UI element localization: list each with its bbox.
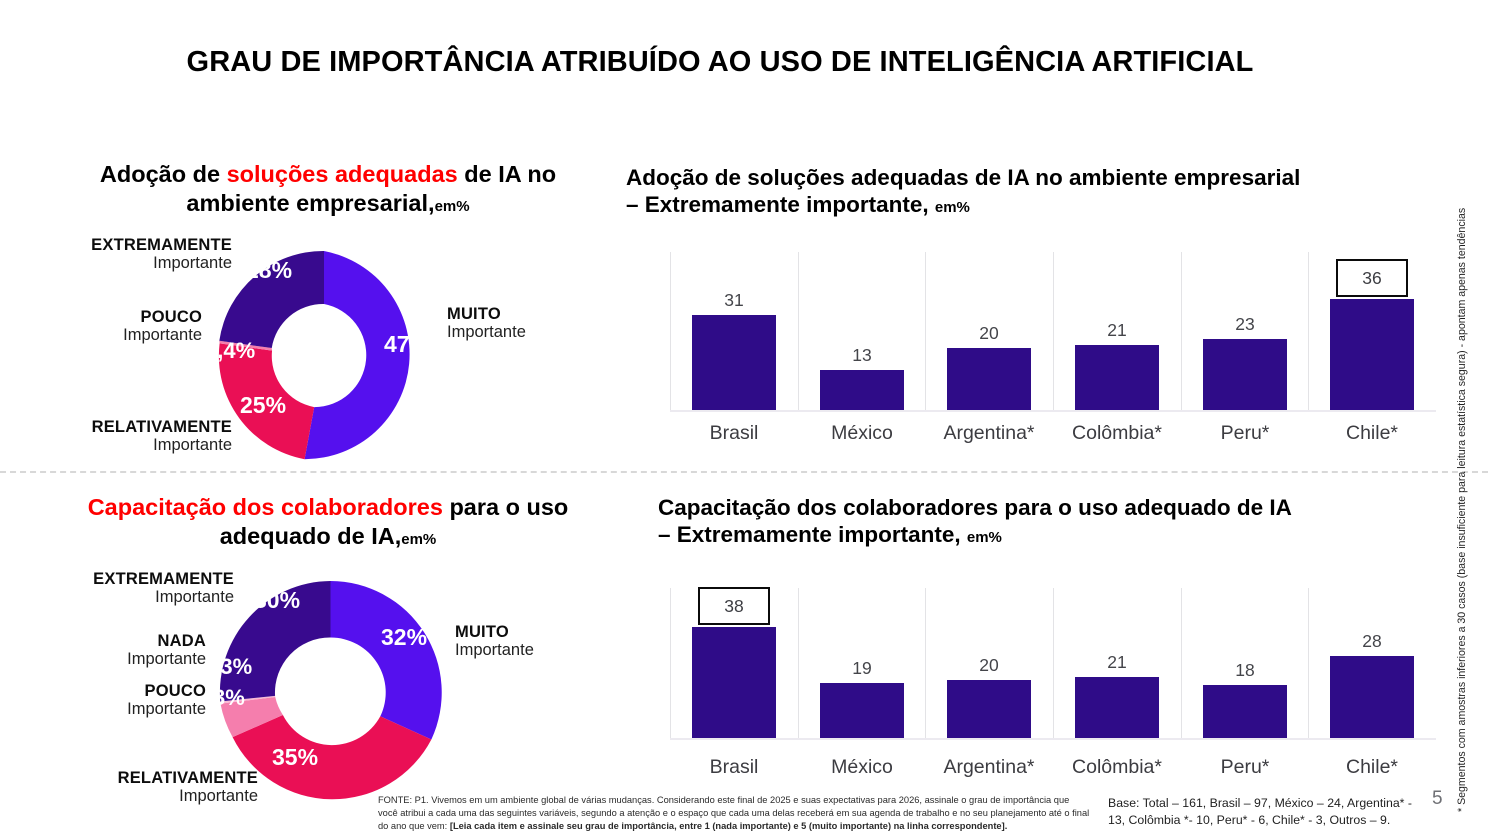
bar-value-label: 28: [1330, 631, 1414, 652]
bar-category-label: Colômbia*: [1053, 756, 1181, 779]
donut-bottom-label-relativamente-cap: RELATIVAMENTE: [62, 769, 258, 787]
bar-chile: [1330, 656, 1414, 738]
donut-bottom-label-extremamente-cap: EXTREMAMENTE: [52, 570, 234, 588]
donut-bottom-label-nada: NADA Importante: [52, 632, 206, 669]
chart-gridline: [670, 252, 671, 412]
donut-top-label-muito-sub: Importante: [447, 323, 607, 341]
donut-bottom-label-relativamente-sub: Importante: [62, 787, 258, 805]
donut-bottom-label-extremamente-sub: Importante: [52, 588, 234, 606]
chart-gridline: [925, 252, 926, 412]
bar-category-label: Chile*: [1308, 756, 1436, 779]
chart-baseline: [670, 738, 1436, 740]
donut-bottom-label-nada-sub: Importante: [52, 650, 206, 668]
bar-brasil: [692, 627, 776, 738]
donut-bottom-label-muito: MUITO Importante: [455, 623, 615, 660]
donut-bottom-value-relativamente: 35%: [272, 744, 318, 771]
bar-category-label: México: [798, 422, 926, 445]
bar-top-title: Adoção de soluções adequadas de IA no am…: [626, 164, 1426, 219]
chart-gridline: [798, 252, 799, 412]
bar-brasil: [692, 315, 776, 410]
donut-bottom-value-nada: 0,3%: [202, 654, 252, 680]
bar-value-label: 18: [1203, 660, 1287, 681]
bar-value-label: 21: [1075, 320, 1159, 341]
bar-category-label: Argentina*: [925, 422, 1053, 445]
bar-chart-top-categories: BrasilMéxicoArgentina*Colômbia*Peru*Chil…: [670, 418, 1436, 452]
donut-top-value-pouco: 0,4%: [205, 338, 255, 364]
bar-category-label: Colômbia*: [1053, 422, 1181, 445]
bar-méxico: [820, 683, 904, 738]
chart-gridline: [925, 588, 926, 740]
donut-bottom-value-pouco: 3%: [213, 685, 245, 711]
donut-bottom-value-muito: 32%: [381, 624, 427, 651]
bar-value-label: 13: [820, 345, 904, 366]
donut-top-label-pouco-sub: Importante: [52, 326, 202, 344]
donut-top-value-relativamente: 25%: [240, 392, 286, 419]
donut-top-label-pouco: POUCO Importante: [52, 308, 202, 345]
source-footnote-bold: [Leia cada item e assinale seu grau de i…: [450, 821, 1007, 831]
bar-méxico: [820, 370, 904, 410]
bar-category-label: Brasil: [670, 422, 798, 445]
chart-gridline: [1053, 252, 1054, 412]
donut-bottom-title-unit: em%: [401, 531, 436, 548]
bar-value-label: 20: [947, 655, 1031, 676]
donut-bottom-slice-relativamente: [233, 715, 432, 799]
bar-top-title-line2: – Extremamente importante,: [626, 192, 929, 217]
donut-top-label-relativamente-cap: RELATIVAMENTE: [52, 418, 232, 436]
donut-bottom-label-extremamente: EXTREMAMENTE Importante: [52, 570, 234, 607]
bar-chart-bottom-categories: BrasilMéxicoArgentina*Colômbia*Peru*Chil…: [670, 752, 1436, 786]
bar-argentina: [947, 348, 1031, 410]
donut-bottom-slice-muito: [331, 581, 442, 739]
bar-value-label: 31: [692, 290, 776, 311]
bar-category-label: Peru*: [1181, 422, 1309, 445]
donut-top-label-muito: MUITO Importante: [447, 305, 607, 342]
bar-value-label: 36: [1336, 259, 1408, 297]
donut-top-title-highlight: soluções adequadas: [227, 161, 458, 187]
bar-category-label: Brasil: [670, 756, 798, 779]
bar-chart-top: 311320212336: [670, 252, 1436, 412]
bar-bottom-title-line2: – Extremamente importante,: [658, 522, 961, 547]
bar-category-label: Peru*: [1181, 756, 1309, 779]
donut-bottom-title-highlight: Capacitação dos colaboradores: [88, 494, 443, 520]
donut-top-title-unit: em%: [435, 198, 470, 215]
donut-bottom-label-pouco-cap: POUCO: [52, 682, 206, 700]
bar-value-label: 21: [1075, 652, 1159, 673]
donut-bottom-value-extremamente: 30%: [254, 587, 300, 614]
donut-top-value-extremamente: 28%: [246, 257, 292, 284]
chart-gridline: [1181, 252, 1182, 412]
donut-top-label-relativamente-sub: Importante: [52, 436, 232, 454]
bar-colômbia: [1075, 345, 1159, 410]
chart-gridline: [798, 588, 799, 740]
chart-gridline: [1308, 252, 1309, 412]
slide-root: GRAU DE IMPORTÂNCIA ATRIBUÍDO AO USO DE …: [0, 0, 1488, 837]
chart-gridline: [670, 588, 671, 740]
donut-top-label-pouco-cap: POUCO: [52, 308, 202, 326]
donut-top-label-muito-cap: MUITO: [447, 305, 607, 323]
donut-bottom-label-pouco: POUCO Importante: [52, 682, 206, 719]
bar-bottom-title-unit: em%: [967, 529, 1002, 546]
bar-top-title-line1: Adoção de soluções adequadas de IA no am…: [626, 165, 1300, 190]
donut-chart-top: 28% 0,4% 25% 47%: [218, 250, 430, 462]
donut-bottom-label-nada-cap: NADA: [52, 632, 206, 650]
bar-value-label: 19: [820, 658, 904, 679]
bar-category-label: Chile*: [1308, 422, 1436, 445]
bar-peru: [1203, 339, 1287, 410]
bar-argentina: [947, 680, 1031, 738]
donut-bottom-label-muito-cap: MUITO: [455, 623, 615, 641]
bar-value-label: 38: [698, 587, 770, 625]
donut-bottom-label-muito-sub: Importante: [455, 641, 615, 659]
donut-bottom-title: Capacitação dos colaboradores para o uso…: [58, 493, 598, 550]
donut-top-label-relativamente: RELATIVAMENTE Importante: [52, 418, 232, 455]
donut-top-title: Adoção de soluções adequadas de IA no am…: [58, 160, 598, 217]
page-number: 5: [1432, 788, 1443, 810]
chart-gridline: [1181, 588, 1182, 740]
side-note-container: * Segmentos com amostras inferiores a 30…: [1455, 100, 1481, 812]
bar-value-label: 20: [947, 323, 1031, 344]
bar-colômbia: [1075, 677, 1159, 738]
chart-gridline: [1053, 588, 1054, 740]
bar-bottom-title: Capacitação dos colaboradores para o uso…: [658, 494, 1458, 549]
bar-category-label: Argentina*: [925, 756, 1053, 779]
chart-baseline: [670, 410, 1436, 412]
bar-top-title-unit: em%: [935, 199, 970, 216]
donut-top-label-extremamente-sub: Importante: [52, 254, 232, 272]
section-divider: [0, 471, 1488, 473]
donut-top-value-muito: 47%: [384, 331, 430, 358]
donut-bottom-label-relativamente: RELATIVAMENTE Importante: [62, 769, 258, 806]
donut-bottom-label-pouco-sub: Importante: [52, 700, 206, 718]
bar-chart-bottom: 381920211828: [670, 588, 1436, 740]
base-note: Base: Total – 161, Brasil – 97, México –…: [1108, 795, 1430, 829]
bar-category-label: México: [798, 756, 926, 779]
donut-top-label-extremamente: EXTREMAMENTE Importante: [52, 236, 232, 273]
side-note: * Segmentos com amostras inferiores a 30…: [1456, 208, 1468, 812]
donut-top-label-extremamente-cap: EXTREMAMENTE: [52, 236, 232, 254]
bar-chile: [1330, 299, 1414, 410]
source-footnote: FONTE: P1. Vivemos em um ambiente global…: [378, 794, 1090, 834]
chart-gridline: [1308, 588, 1309, 740]
bar-peru: [1203, 685, 1287, 738]
page-title: GRAU DE IMPORTÂNCIA ATRIBUÍDO AO USO DE …: [0, 46, 1440, 79]
bar-bottom-title-line1: Capacitação dos colaboradores para o uso…: [658, 495, 1292, 520]
bar-value-label: 23: [1203, 314, 1287, 335]
donut-top-title-pre: Adoção de: [100, 161, 227, 187]
